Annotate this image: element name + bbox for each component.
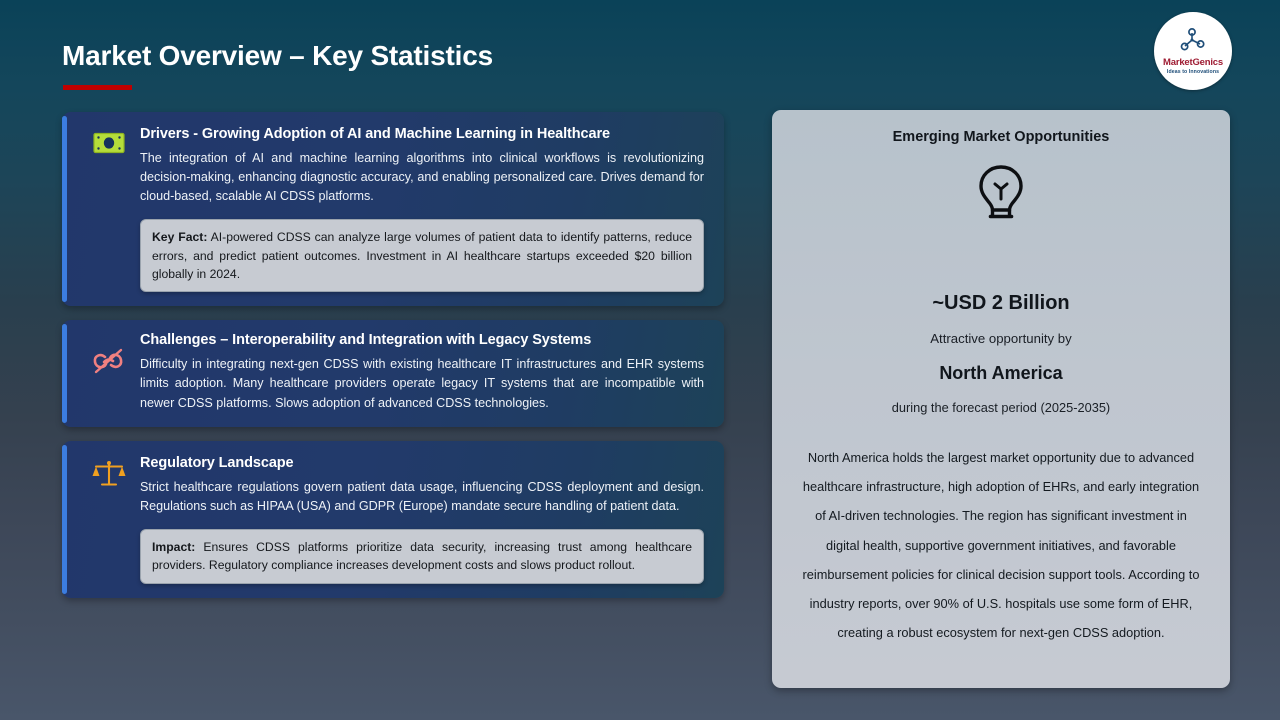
card-drivers[interactable]: Drivers - Growing Adoption of AI and Mac… [62, 112, 724, 306]
opportunity-subtitle: Attractive opportunity by [930, 331, 1071, 346]
emerging-market-opportunities-panel: Emerging Market Opportunities ~USD 2 Bil… [772, 110, 1230, 688]
card-title: Regulatory Landscape [140, 455, 704, 471]
forecast-period: during the forecast period (2025-2035) [892, 400, 1110, 415]
panel-paragraph: North America holds the largest market o… [796, 443, 1206, 647]
card-body: Drivers - Growing Adoption of AI and Mac… [140, 126, 708, 292]
card-callout: Key Fact: AI-powered CDSS can analyze la… [140, 219, 704, 292]
card-callout: Impact: Ensures CDSS platforms prioritiz… [140, 529, 704, 584]
insight-cards-column: Drivers - Growing Adoption of AI and Mac… [62, 112, 724, 612]
broken-link-icon [78, 332, 140, 412]
network-nodes-icon [1180, 28, 1206, 57]
lightbulb-icon [972, 163, 1030, 230]
card-title: Challenges – Interoperability and Integr… [140, 332, 704, 348]
card-challenges[interactable]: Challenges – Interoperability and Integr… [62, 320, 724, 426]
card-description: Strict healthcare regulations govern pat… [140, 478, 704, 516]
logo-name: MarketGenics [1163, 58, 1223, 68]
card-body: Regulatory Landscape Strict healthcare r… [140, 455, 708, 584]
callout-label: Key Fact: [152, 230, 207, 244]
title-accent-rule [63, 85, 132, 90]
logo-tagline: Ideas to Innovations [1167, 69, 1219, 75]
card-description: Difficulty in integrating next-gen CDSS … [140, 355, 704, 412]
brand-logo[interactable]: MarketGenics Ideas to Innovations [1154, 12, 1232, 90]
callout-label: Impact: [152, 540, 195, 554]
callout-text: Ensures CDSS platforms prioritize data s… [152, 540, 692, 572]
card-body: Challenges – Interoperability and Integr… [140, 332, 708, 412]
balance-scale-icon [78, 455, 140, 584]
card-title: Drivers - Growing Adoption of AI and Mac… [140, 126, 704, 142]
leading-region: North America [939, 363, 1062, 384]
page-title: Market Overview – Key Statistics [62, 40, 493, 72]
market-value: ~USD 2 Billion [932, 292, 1069, 315]
card-description: The integration of AI and machine learni… [140, 149, 704, 206]
money-banknote-icon [78, 126, 140, 292]
card-regulatory-landscape[interactable]: Regulatory Landscape Strict healthcare r… [62, 441, 724, 598]
callout-text: AI-powered CDSS can analyze large volume… [152, 230, 692, 281]
panel-title: Emerging Market Opportunities [893, 129, 1110, 145]
